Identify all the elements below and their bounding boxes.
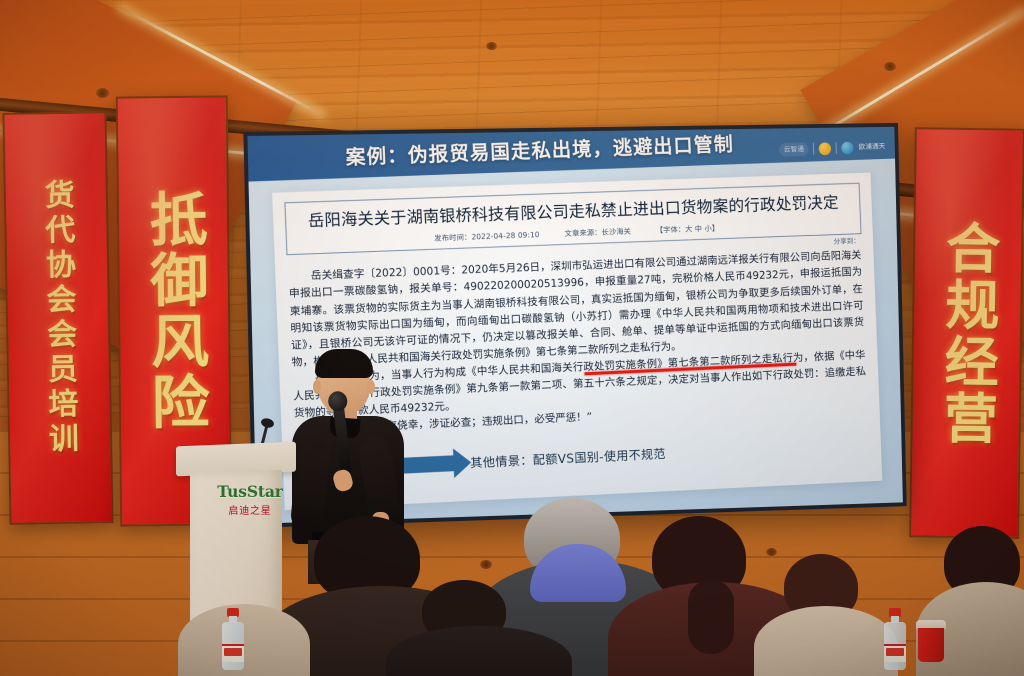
banner-compliant-operation: 合规经营: [909, 127, 1024, 538]
audience-shoulders: [178, 604, 310, 676]
wood-knot: [884, 62, 896, 71]
cup-body: [918, 628, 944, 662]
partner-logo-name: 欧浦通天: [858, 141, 885, 152]
audience-shoulders: [754, 606, 898, 676]
partner-mark-icon: [819, 142, 832, 155]
banner-text: 抵御风险: [142, 189, 206, 433]
audience-shoulders: [386, 626, 572, 676]
cloud-logo: 云智通: [779, 142, 809, 157]
audience-member: [760, 554, 888, 676]
coffee-cup: [916, 620, 946, 662]
water-bottle: [884, 608, 906, 670]
font-size-control[interactable]: 【字体：大 中 小】: [656, 223, 720, 236]
banner-text: 合规经营: [937, 219, 997, 447]
banner-text: 货代协会会员培训: [40, 179, 77, 458]
article-source: 文章来源：长沙海关: [564, 226, 631, 239]
speaker-ear: [313, 380, 321, 394]
podium-logo: TusStar 启迪之星: [207, 482, 293, 517]
partner-globe-icon: [841, 141, 854, 154]
speaker-hair: [315, 349, 373, 378]
bottle-label-band: [886, 648, 904, 656]
publish-time: 发布时间：2022-04-28 09:10: [434, 230, 540, 245]
podium-logo-chinese: 启迪之星: [207, 502, 293, 517]
logo-divider: [813, 143, 814, 155]
banner-association-training: 货代协会会员培训: [2, 111, 113, 525]
water-bottle: [222, 608, 244, 670]
bottle-label-band: [224, 648, 242, 656]
conference-photo: 货代协会会员培训 抵御风险 合规经营 案例：伪报贸易国走私出境，逃避出口管制 云…: [0, 0, 1024, 676]
audience-ponytail: [688, 580, 734, 654]
speaker-ear: [367, 380, 375, 394]
slide-title: 案例：伪报贸易国走私出境，逃避出口管制: [345, 128, 734, 170]
wood-knot: [486, 42, 497, 50]
logo-divider: [836, 142, 837, 154]
wood-knot: [96, 88, 109, 98]
audience-member: [396, 580, 556, 676]
podium-logo-english: TusStar: [207, 482, 293, 501]
